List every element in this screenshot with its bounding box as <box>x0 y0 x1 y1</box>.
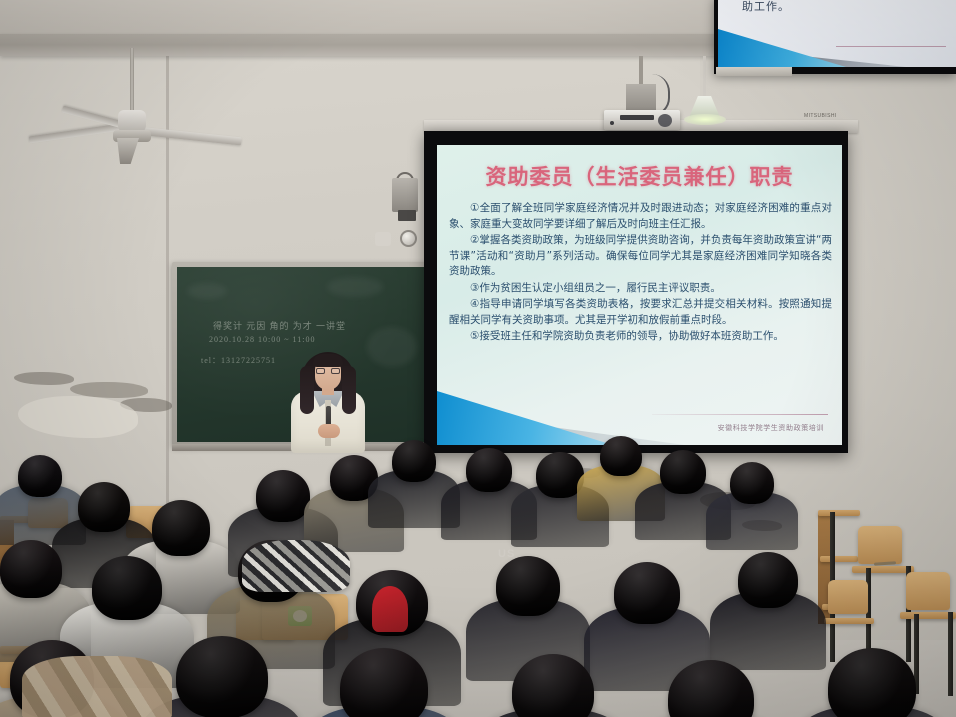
presentation-slide: 资助委员（生活委员兼任）职责 ①全面了解全班同学家庭经济情况并及时跟进动态；对家… <box>437 145 842 445</box>
chair-back[interactable] <box>858 526 902 564</box>
slide-body: ①全面了解全班同学家庭经济情况并及时跟进动态；对家庭经济困难的重点对象、家庭重大… <box>449 201 832 346</box>
presenter-hair-right <box>342 366 356 414</box>
slide-paragraph: ⑤接受班主任和学院资助负责老师的领导，协助做好本班资助工作。 <box>449 329 832 345</box>
chair-back[interactable] <box>828 580 868 614</box>
audience-member-head <box>78 482 130 532</box>
audience-member-head <box>152 500 210 556</box>
audience-member-head <box>730 462 774 504</box>
slide-paragraph: ③作为贫困生认定小组组员之一，履行民主评议职责。 <box>449 281 832 297</box>
audience-member-head <box>256 470 310 522</box>
slide-paragraph: ①全面了解全班同学家庭经济情况并及时跟进动态；对家庭经济困难的重点对象、家庭重大… <box>449 201 832 232</box>
wall-plate <box>375 232 391 246</box>
chalk-line-3: tel：13127225751 <box>201 355 276 366</box>
audience-member-head <box>738 552 798 608</box>
secondary-monitor-slide: 助工作。 <box>718 0 956 67</box>
desk-surface <box>820 556 858 562</box>
projector <box>604 110 680 130</box>
projection-screen: 资助委员（生活委员兼任）职责 ①全面了解全班同学家庭经济情况并及时跟进动态；对家… <box>424 131 848 453</box>
chair-back[interactable] <box>906 572 950 610</box>
presenter-hair-left <box>300 366 314 414</box>
secondary-slide-divider <box>836 46 946 47</box>
slide-paragraph: ②掌握各类资助政策，为班级同学提供资助咨询，并负责每年资助政策宣讲“两节课”活动… <box>449 233 832 280</box>
wall-knob[interactable] <box>400 230 417 247</box>
plaid-scarf <box>242 540 350 592</box>
audience-member-head <box>18 455 62 497</box>
audience-member-head <box>614 562 680 624</box>
presenter-fringe <box>313 354 343 367</box>
red-jacket-graphic <box>372 586 408 632</box>
wall-speaker <box>392 178 418 212</box>
camo-jacket <box>22 656 172 717</box>
jacket-text: US <box>498 548 538 560</box>
presenter-hands <box>318 424 340 438</box>
desk-surface <box>818 510 860 516</box>
chalk-smudge <box>367 327 417 367</box>
slide-paragraph: ④指导申请同学填写各类资助表格，按要求汇总并提交相关材料。按照通知提醒相关同学有… <box>449 297 832 328</box>
slide-decoration-blue <box>437 391 613 445</box>
chalk-smudge <box>187 283 227 299</box>
desk-leg <box>948 612 953 696</box>
audience-member-head <box>92 556 162 620</box>
glasses-icon <box>316 368 340 374</box>
chalk-line-1: 得奖计 元因 角的 为才 一讲堂 <box>213 319 346 332</box>
pendant-lamp-rod <box>703 56 706 98</box>
secondary-monitor: 助工作。 <box>714 0 956 74</box>
audience-member-head <box>176 636 268 717</box>
monitor-label <box>716 67 792 76</box>
lecture-hall-photo: 得奖计 元因 角的 为才 一讲堂 2020.10.28 10:00 ~ 11:0… <box>0 0 956 717</box>
audience-member-head <box>660 450 706 494</box>
audience-member-head <box>0 540 62 598</box>
slide-title: 资助委员（生活委员兼任）职责 <box>437 161 842 191</box>
desk-surface <box>824 618 874 624</box>
speaker-foot <box>398 210 416 221</box>
chalk-line-2: 2020.10.28 10:00 ~ 11:00 <box>209 335 315 344</box>
blue-jacket <box>418 644 548 717</box>
slide-footer: 安徽科技学院学生资助政策培训 <box>718 423 824 433</box>
ceiling-fan-rod <box>130 48 134 114</box>
audience-member-head <box>392 440 436 482</box>
wall-seam <box>166 52 169 522</box>
slide-divider <box>652 414 828 415</box>
audience-member-head <box>600 436 642 476</box>
secondary-slide-decoration-blue <box>718 29 846 67</box>
desk-surface <box>852 566 914 573</box>
secondary-monitor-text: 助工作。 <box>742 0 790 14</box>
brand-logo-icon: MITSUBISHI <box>804 113 837 119</box>
pendant-lamp-glow <box>684 114 726 125</box>
audience-member-head <box>466 448 512 492</box>
audience-member-head <box>496 556 560 616</box>
chalk-smudge <box>327 277 383 297</box>
